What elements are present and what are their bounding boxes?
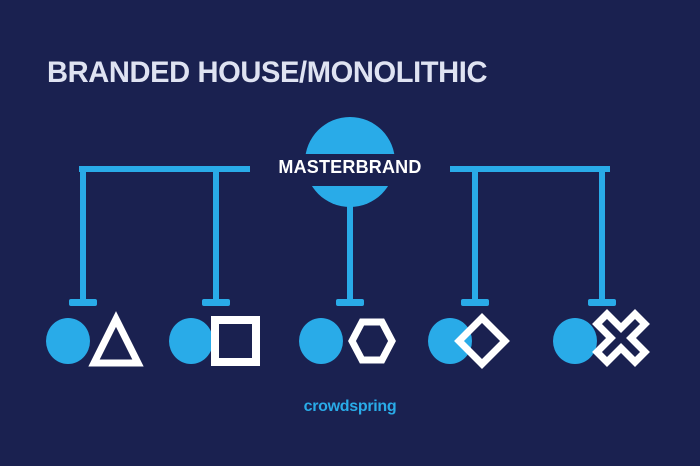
connector-foot-brand-5 — [588, 299, 616, 306]
hexagon-outline-icon — [352, 322, 392, 360]
crowdspring-logo: crowdspring — [0, 398, 700, 416]
brand-group-3 — [299, 318, 392, 364]
brand-2-circle — [169, 318, 213, 364]
connector-drop-brand-5 — [599, 166, 605, 303]
infographic-canvas: BRANDED HOUSE/MONOLITHIC — [0, 0, 700, 466]
brand-group-5 — [553, 314, 645, 364]
square-outline-icon — [215, 320, 256, 362]
connector-foot-brand-1 — [69, 299, 97, 306]
connector-foot-brand-2 — [202, 299, 230, 306]
connector-drop-brand-4 — [472, 166, 478, 303]
brand-1-circle — [46, 318, 90, 364]
connector-drop-brand-2 — [213, 166, 219, 303]
connector-drop-brand-1 — [80, 166, 86, 303]
masterbrand-label-band — [250, 154, 450, 186]
triangle-outline-icon — [94, 319, 138, 363]
cross-outline-icon — [597, 314, 645, 362]
connector-foot-brand-3 — [336, 299, 364, 306]
brand-3-circle — [299, 318, 343, 364]
brand-group-2 — [169, 318, 256, 364]
brand-group-4 — [428, 318, 505, 364]
brand-5-circle — [553, 318, 597, 364]
connector-drop-brand-3 — [347, 205, 353, 303]
brand-group-1 — [46, 318, 138, 364]
connector-foot-brand-4 — [461, 299, 489, 306]
brand-4-circle — [428, 318, 472, 364]
brand-architecture-diagram — [0, 0, 700, 466]
